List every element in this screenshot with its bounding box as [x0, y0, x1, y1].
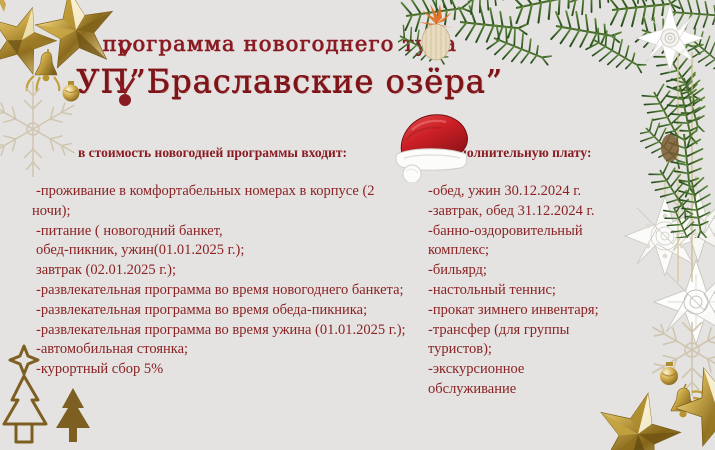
included-list: -проживание в комфортабельных номерах в … [32, 182, 432, 380]
gold-star-ornament-icon [676, 356, 715, 450]
gold-bauble-icon [655, 360, 685, 390]
list-item: туристов); [428, 340, 618, 360]
included-heading: в стоимость новогодней программы входит: [78, 145, 347, 161]
snowflake-ornament-icon [630, 322, 715, 412]
list-item: комплекс; [428, 241, 618, 261]
list-item: -развлекательная программа во время ново… [32, 281, 432, 301]
list-item: -бильярд; [428, 261, 618, 281]
snowflake-ornament-icon [650, 254, 715, 350]
extra-charge-list: -обед, ужин 30.12.2024 г. -завтрак, обед… [428, 182, 618, 400]
snowflake-ornament-icon [616, 182, 714, 282]
list-item: -курортный сбор 5% [32, 360, 432, 380]
hanging-string-icon [666, 52, 706, 282]
list-item: ночи); [32, 202, 432, 222]
gold-bell-icon [660, 382, 714, 434]
list-item: -настольный теннис; [428, 281, 618, 301]
snowflake-ornament-icon [672, 176, 715, 268]
list-item: -автомобильная стоянка; [32, 340, 432, 360]
list-item: -завтрак, обед 31.12.2024 г. [428, 202, 618, 222]
poster-subtitle: программа новогоднего тура [0, 32, 560, 56]
list-item: обслуживание [428, 380, 618, 400]
list-item: -развлекательная программа во время ужин… [32, 321, 432, 341]
extra-charge-heading: за дополнительную плату: [430, 145, 591, 161]
poster-title: УП”Браславские озёра” [0, 62, 580, 100]
list-item: -экскурсионное [428, 360, 618, 380]
snowflake-ornament-icon [632, 0, 708, 78]
christmas-tree-icon [42, 386, 104, 450]
list-item: -прокат зимнего инвентаря; [428, 301, 618, 321]
list-item: -обед, ужин 30.12.2024 г. [428, 182, 618, 202]
new-year-tour-poster: программа новогоднего тура УП”Браславски… [0, 0, 715, 450]
list-item: -проживание в комфортабельных номерах в … [32, 182, 432, 202]
list-item: -банно-оздоровительный [428, 222, 618, 242]
list-item: -питание ( новогодний банкет, [32, 222, 432, 242]
list-item: завтрак (02.01.2025 г.); [32, 261, 432, 281]
list-item: обед-пикник, ужин(01.01.2025 г.); [32, 241, 432, 261]
list-item: -развлекательная программа во время обед… [32, 301, 432, 321]
list-item: -трансфер (для группы [428, 321, 618, 341]
pine-branch-icon [640, 78, 715, 238]
